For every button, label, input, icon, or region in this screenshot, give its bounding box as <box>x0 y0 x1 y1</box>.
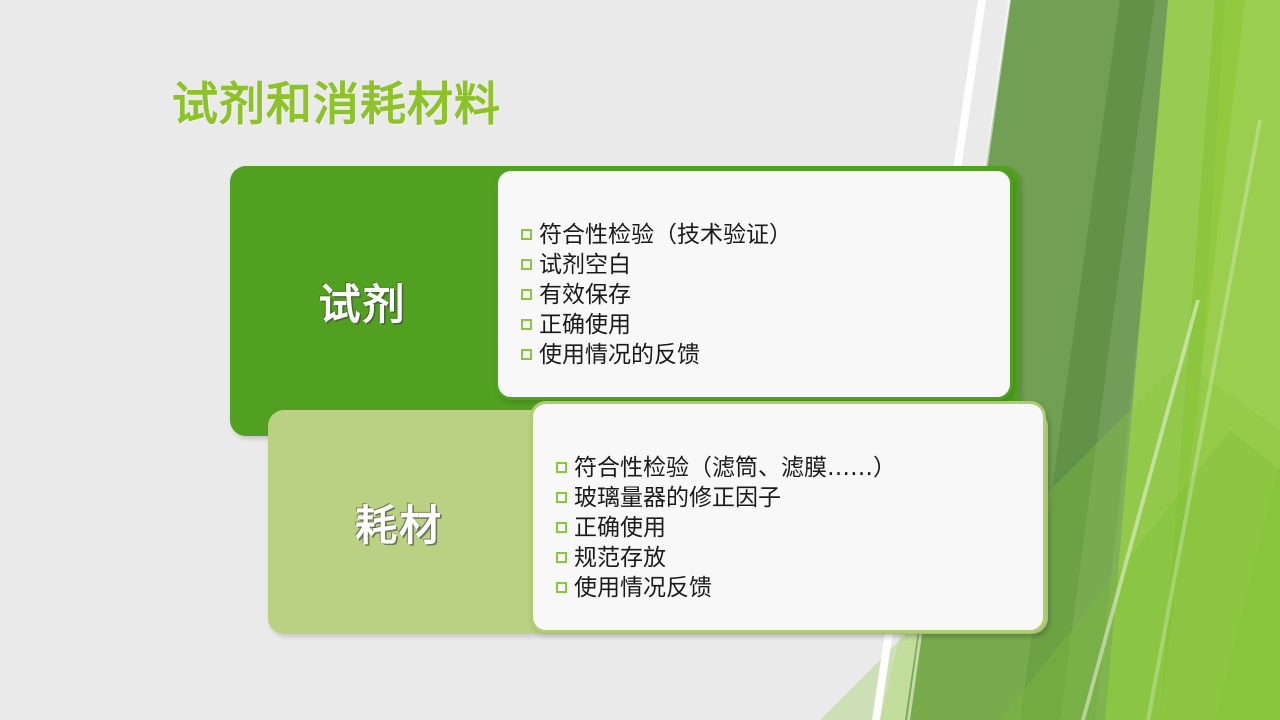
square-bullet-icon <box>521 229 532 240</box>
list-item-label: 试剂空白 <box>539 251 631 280</box>
section-label-consumable: 耗材 <box>268 410 530 634</box>
square-bullet-icon <box>556 462 567 473</box>
square-bullet-icon <box>521 319 532 330</box>
presentation-slide: 试剂和消耗材料 试剂 符合性检验（技术验证） 试剂空白 有效保存 正确使用 使用… <box>0 0 1280 720</box>
list-item: 正确使用 <box>521 311 792 340</box>
page-title: 试剂和消耗材料 <box>172 68 501 134</box>
list-item: 正确使用 <box>556 514 896 543</box>
bullet-list-consumable: 符合性检验（滤筒、滤膜……） 玻璃量器的修正因子 正确使用 规范存放 使用情况反… <box>556 454 896 604</box>
square-bullet-icon <box>556 552 567 563</box>
square-bullet-icon <box>521 259 532 270</box>
list-item-label: 使用情况的反馈 <box>539 341 700 370</box>
bullet-list-reagent: 符合性检验（技术验证） 试剂空白 有效保存 正确使用 使用情况的反馈 <box>521 221 792 371</box>
section-label-reagent: 试剂 <box>230 166 495 436</box>
square-bullet-icon <box>521 289 532 300</box>
list-item: 符合性检验（技术验证） <box>521 221 792 250</box>
list-item-label: 规范存放 <box>574 544 666 573</box>
list-item: 试剂空白 <box>521 251 792 280</box>
square-bullet-icon <box>556 522 567 533</box>
square-bullet-icon <box>521 349 532 360</box>
list-item: 玻璃量器的修正因子 <box>556 484 896 513</box>
list-item: 使用情况的反馈 <box>521 341 792 370</box>
list-item-label: 使用情况反馈 <box>574 574 712 603</box>
list-item: 符合性检验（滤筒、滤膜……） <box>556 454 896 483</box>
list-item: 规范存放 <box>556 544 896 573</box>
list-item-label: 符合性检验（技术验证） <box>539 221 792 250</box>
square-bullet-icon <box>556 582 567 593</box>
list-item-label: 正确使用 <box>574 514 666 543</box>
list-item: 有效保存 <box>521 281 792 310</box>
square-bullet-icon <box>556 492 567 503</box>
list-item-label: 有效保存 <box>539 281 631 310</box>
list-item-label: 玻璃量器的修正因子 <box>574 484 781 513</box>
list-item-label: 符合性检验（滤筒、滤膜……） <box>574 454 896 483</box>
list-item: 使用情况反馈 <box>556 574 896 603</box>
list-item-label: 正确使用 <box>539 311 631 340</box>
